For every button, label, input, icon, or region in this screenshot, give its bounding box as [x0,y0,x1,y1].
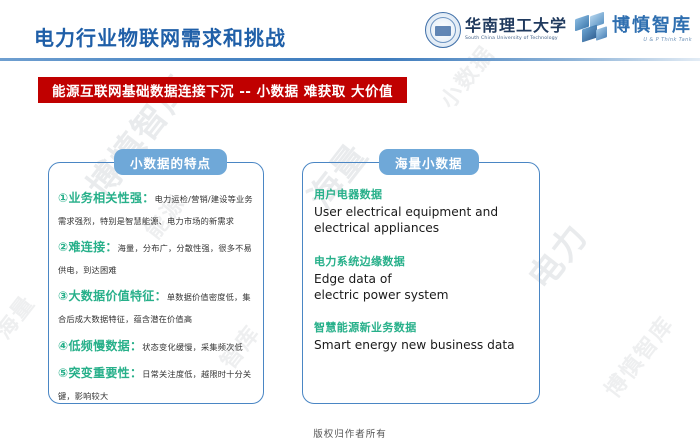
item-label-en: User electrical equipment andelectrical … [314,204,532,237]
item-label-en: Edge data ofelectric power system [314,271,532,304]
page-title: 电力行业物联网需求和挑战 [34,22,286,51]
list-item: ②难连接：海量，分布广，分散性强，很多不易供电，到达困难 [58,235,258,278]
item-label-en: Smart energy new business data [314,337,532,353]
feature-heading: 难连接： [68,240,117,254]
list-item: 用户电器数据 User electrical equipment andelec… [314,186,532,237]
watermark-text: 海量 [0,287,41,345]
small-data-feature-list: ①业务相关性强：电力运检/营销/建设等业务需求强烈，特别是智慧能源、电力市场的新… [58,186,258,410]
feature-marker: ⑤ [58,366,68,380]
think-tank-name-cn: 博慎智库 [612,17,692,35]
item-label-cn: 智慧能源新业务数据 [314,319,532,335]
list-item: ③大数据价值特征：单数据价值密度低，集合后成大数据特征，蕴含潜在价值高 [58,284,258,327]
feature-heading: 业务相关性强： [68,191,154,205]
feature-marker: ④ [58,339,68,353]
left-panel-title-pill: 小数据的特点 [114,149,227,175]
feature-heading: 突变重要性： [68,366,142,380]
list-item: ①业务相关性强：电力运检/营销/建设等业务需求强烈，特别是智慧能源、电力市场的新… [58,186,258,229]
copyright-footer: 版权归作者所有 [0,426,700,440]
feature-marker: ① [58,191,68,205]
logo-group: 华南理工大学 South China University of Technol… [425,6,692,54]
feature-marker: ③ [58,289,68,303]
list-item: 电力系统边缘数据 Edge data ofelectric power syst… [314,253,532,304]
slide-canvas: 博慎智库 能源 海量 小数据 电力 智库 博慎智库 海量 电力行业物联网需求和挑… [0,0,700,444]
list-item: ④低频慢数据：状态变化缓慢，采集频次低 [58,334,258,356]
list-item: ⑤突变重要性：日常关注度低，越限时十分关键，影响较大 [58,361,258,404]
think-tank-name-en: U & P Think Tank [612,38,692,43]
university-logo: 华南理工大学 South China University of Technol… [425,12,567,48]
item-label-cn: 用户电器数据 [314,186,532,202]
watermark-text: 博慎智库 [596,308,680,403]
item-label-cn: 电力系统边缘数据 [314,253,532,269]
section-banner: 能源互联网基础数据连接下沉 -- 小数据 难获取 大价值 [38,77,407,103]
list-item: 智慧能源新业务数据 Smart energy new business data [314,319,532,353]
feature-heading: 大数据价值特征： [68,289,166,303]
think-tank-logo-text: 博慎智库 U & P Think Tank [612,17,692,43]
right-panel-title-pill: 海量小数据 [379,149,479,175]
feature-marker: ② [58,240,68,254]
university-name-cn: 华南理工大学 [465,18,567,34]
think-tank-cube-icon [573,13,609,47]
feature-heading: 低频慢数据： [68,339,142,353]
university-logo-text: 华南理工大学 South China University of Technol… [465,18,567,42]
massive-small-data-item-list: 用户电器数据 User electrical equipment andelec… [314,186,532,370]
university-seal-icon [425,12,461,48]
think-tank-logo: 博慎智库 U & P Think Tank [573,13,692,47]
header-divider [0,58,700,61]
university-name-en: South China University of Technology [465,37,567,42]
feature-body: 状态变化缓慢，采集频次低 [142,342,243,352]
